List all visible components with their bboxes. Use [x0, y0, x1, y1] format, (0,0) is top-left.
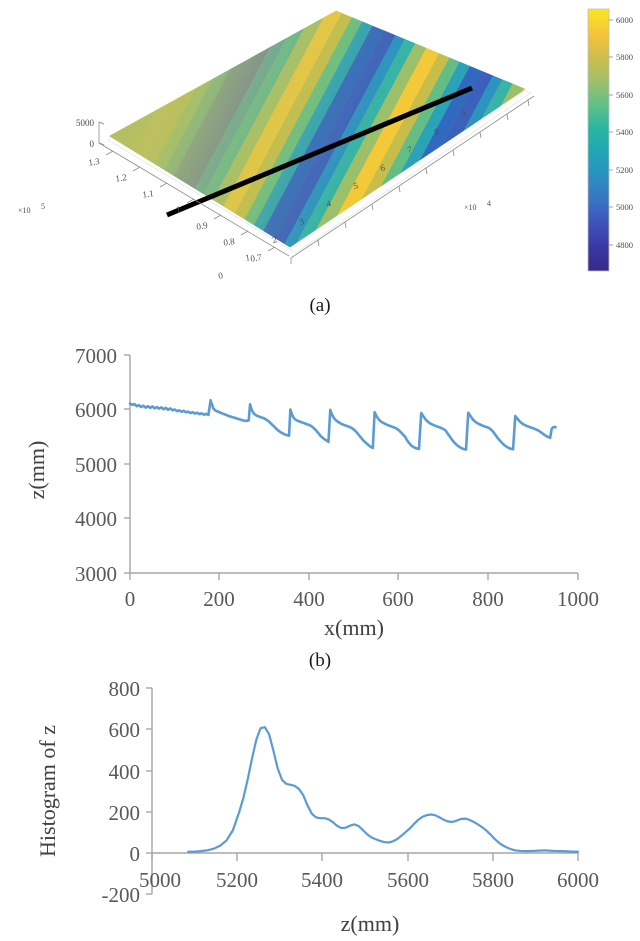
z-axis: 5000 0	[76, 118, 104, 149]
x-tick-0: 0	[217, 270, 224, 281]
y-tick-5: 0.9	[196, 220, 209, 232]
panel-c-xtick-5400: 5400	[301, 868, 343, 892]
profile-chart-svg: 7000 6000 5000 4000 3000 z(mm) 0 200 400…	[0, 330, 640, 660]
panel-b-xtick-400: 400	[293, 587, 325, 611]
svg-text:4: 4	[487, 199, 491, 208]
panel-c-xlabel: z(mm)	[341, 911, 400, 936]
z-tick-5000: 5000	[76, 118, 95, 128]
y-tick-7: 0.7	[250, 252, 263, 264]
panel-b-xtick-0: 0	[125, 587, 136, 611]
y-tick-1: 1.3	[88, 156, 101, 168]
panel-b-profile: 7000 6000 5000 4000 3000 z(mm) 0 200 400…	[0, 330, 640, 660]
panel-c-data-line	[188, 727, 578, 852]
panel-b-xtick-800: 800	[472, 587, 504, 611]
y-tick-2: 1.2	[115, 172, 128, 183]
panel-b-ytick-7000: 7000	[75, 344, 117, 368]
panel-c-ytick-600: 600	[109, 718, 141, 742]
colorbar-tick-5800: 5800	[616, 52, 633, 62]
panel-c-ytick-200: 200	[109, 801, 141, 825]
colorbar-tick-5000: 5000	[616, 202, 633, 212]
figure-root: 5000 0 1.3 1.2 1.1 1 0.9	[0, 0, 640, 941]
panel-c-xtick-5000: 5000	[139, 868, 181, 892]
y-tick-3: 1.1	[142, 188, 155, 199]
panel-b-ytick-5000: 5000	[75, 453, 117, 477]
surface-plot-svg: 5000 0 1.3 1.2 1.1 1 0.9	[0, 0, 640, 300]
panel-c-xtick-6000: 6000	[557, 868, 599, 892]
panel-a-3d-surface: 5000 0 1.3 1.2 1.1 1 0.9	[0, 0, 640, 300]
panel-b-xtick-600: 600	[382, 587, 414, 611]
colorbar-tick-5200: 5200	[616, 165, 633, 175]
y-tick-6: 0.8	[223, 236, 236, 248]
colorbar-gradient	[588, 9, 609, 271]
colorbar-tick-5600: 5600	[616, 90, 633, 100]
panel-c-xtick-5200: 5200	[216, 868, 258, 892]
colorbar: 6000 5800 5600 5400 5200 5000 4800	[588, 9, 633, 271]
panel-c-ytick-minus200: -200	[102, 883, 141, 907]
panel-b-data-line	[130, 400, 556, 449]
panel-b-xtick-1000: 1000	[557, 587, 599, 611]
svg-text:×10: ×10	[464, 203, 477, 212]
panel-c-histogram: 800 600 400 200 0 -200 Histogram of z 50…	[0, 665, 640, 941]
panel-c-ylabel: Histogram of z	[35, 725, 60, 857]
svg-text:5: 5	[41, 202, 45, 211]
x-axis-multiplier: ×10 4	[464, 199, 491, 212]
y-axis-multiplier: ×10 5	[18, 202, 45, 215]
panel-b-x-axis: 0 200 400 600 800 1000 x(mm)	[125, 573, 599, 640]
panel-c-x-axis: 5000 5200 5400 5600 5800 6000 z(mm)	[139, 853, 599, 936]
panel-c-ytick-400: 400	[109, 760, 141, 784]
panel-b-y-axis: 7000 6000 5000 4000 3000 z(mm)	[24, 344, 130, 586]
panel-b-ytick-3000: 3000	[75, 562, 117, 586]
panel-c-y-axis: 800 600 400 200 0 -200 Histogram of z	[35, 677, 152, 907]
panel-b-xtick-200: 200	[203, 587, 235, 611]
panel-b-xlabel: x(mm)	[324, 615, 384, 640]
caption-a: (a)	[0, 295, 640, 317]
y-tick-4: 1	[175, 204, 181, 215]
colorbar-tick-6000: 6000	[616, 15, 633, 25]
svg-text:×10: ×10	[18, 206, 31, 215]
colorbar-tick-5400: 5400	[616, 127, 633, 137]
panel-c-ytick-0: 0	[130, 842, 141, 866]
panel-c-xtick-5600: 5600	[387, 868, 429, 892]
panel-b-ytick-6000: 6000	[75, 398, 117, 422]
panel-c-xtick-5800: 5800	[472, 868, 514, 892]
panel-b-ylabel: z(mm)	[24, 441, 49, 500]
panel-c-ytick-800: 800	[109, 677, 141, 701]
panel-b-ytick-4000: 4000	[75, 507, 117, 531]
colorbar-tick-4800: 4800	[616, 240, 633, 250]
z-tick-0: 0	[90, 139, 95, 149]
histogram-chart-svg: 800 600 400 200 0 -200 Histogram of z 50…	[0, 665, 640, 941]
